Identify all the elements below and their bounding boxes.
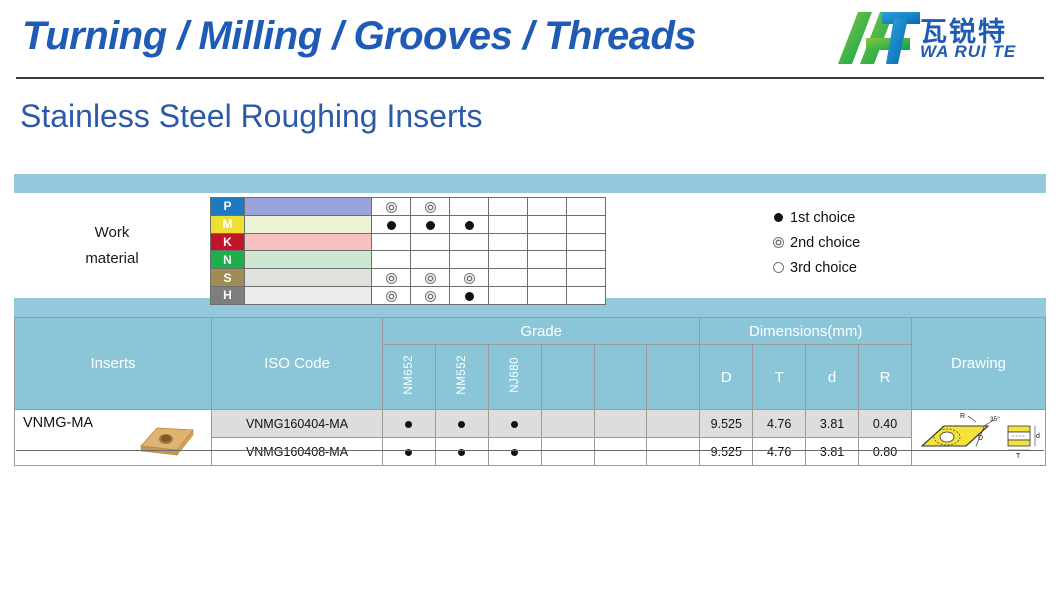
work-material-color-bar: [245, 269, 372, 287]
mark-1st-choice: [405, 421, 412, 428]
mark-2nd-choice: [386, 273, 397, 284]
cell-dimension-d: 3.81: [806, 410, 859, 438]
work-material-group-n: N: [211, 251, 245, 269]
grade-col-empty: [541, 345, 594, 410]
mark-2nd-choice: [425, 291, 436, 302]
work-material-label: Work material: [14, 193, 210, 298]
work-material-cell: [372, 198, 411, 216]
cell-dimension-R: 0.40: [859, 410, 912, 438]
work-material-cell: [450, 269, 489, 287]
grade-col-NM552: NM552: [435, 345, 488, 410]
legend-label: 2nd choice: [790, 235, 860, 251]
table-bottom-divider: [16, 450, 1044, 451]
mark-2nd-choice: [386, 291, 397, 302]
company-logo: 瓦锐特 WA RUI TE: [836, 8, 1048, 70]
dimension-col-D: D: [700, 345, 753, 410]
cell-grade: [435, 410, 488, 438]
work-material-cell: [528, 233, 567, 251]
mark-2nd-choice: [386, 202, 397, 213]
work-material-cell: [489, 251, 528, 269]
logo-mark-icon: [836, 8, 920, 68]
cell-dimension-R: 0.80: [859, 438, 912, 466]
legend-marker: [766, 235, 790, 251]
grade-col-empty: [647, 345, 700, 410]
work-material-group-m: M: [211, 215, 245, 233]
col-header-grade: Grade: [383, 318, 700, 345]
work-material-group-k: K: [211, 233, 245, 251]
mark-1st-choice: [458, 421, 465, 428]
product-table-area: Work material PMKNSH 1st choice2nd choic…: [14, 174, 1046, 466]
work-material-cell: [411, 251, 450, 269]
cell-grade: [488, 438, 541, 466]
cell-grade: [541, 410, 594, 438]
header-divider: [16, 77, 1044, 79]
work-material-color-bar: [245, 251, 372, 269]
drawing-label-angle: 35°: [990, 415, 1000, 423]
work-material-cell: [450, 251, 489, 269]
work-material-cell: [372, 269, 411, 287]
insert-family-cell: VNMG-MA: [15, 410, 212, 466]
work-material-cell: [567, 233, 606, 251]
work-material-cell: [567, 251, 606, 269]
dimension-col-R: R: [859, 345, 912, 410]
cell-grade: [647, 438, 700, 466]
drawing-label-r: R: [960, 413, 965, 420]
insert-technical-drawing: R 35° D d T: [916, 412, 1044, 464]
col-header-iso-code: ISO Code: [212, 318, 383, 410]
cell-dimension-T: 4.76: [753, 410, 806, 438]
work-material-cell: [528, 286, 567, 304]
mark-2nd-choice: [425, 202, 436, 213]
cell-grade: [488, 410, 541, 438]
work-material-cell: [411, 269, 450, 287]
work-material-cell: [567, 269, 606, 287]
grade-col-NM652: NM652: [383, 345, 436, 410]
mark-1st-choice: [465, 292, 474, 301]
work-material-row: N: [211, 251, 606, 269]
work-material-cell: [528, 251, 567, 269]
header-title: Turning / Milling / Grooves / Threads: [22, 14, 696, 59]
work-material-color-bar: [245, 233, 372, 251]
legend-marker: [766, 210, 790, 226]
work-material-cell: [372, 215, 411, 233]
work-material-cell: [450, 286, 489, 304]
work-material-matrix: PMKNSH: [210, 197, 606, 305]
work-material-row: P: [211, 198, 606, 216]
mark-1st-choice: [511, 421, 518, 428]
cell-grade: [383, 410, 436, 438]
work-material-cell: [489, 286, 528, 304]
work-material-group-h: H: [211, 286, 245, 304]
cell-grade: [541, 438, 594, 466]
work-material-cell: [489, 215, 528, 233]
work-material-color-bar: [245, 286, 372, 304]
work-material-cell: [372, 233, 411, 251]
legend-label: 3rd choice: [790, 260, 857, 276]
cell-grade: [647, 410, 700, 438]
work-material-cell: [450, 215, 489, 233]
mark-2nd-choice: [464, 273, 475, 284]
cell-iso-code: VNMG160404-MA: [212, 410, 383, 438]
mark-1st-choice: [426, 221, 435, 230]
work-material-label-line1: Work: [95, 220, 130, 246]
page-title: Stainless Steel Roughing Inserts: [20, 98, 482, 135]
legend-marker: [766, 260, 790, 276]
work-material-cell: [411, 198, 450, 216]
work-material-row: S: [211, 269, 606, 287]
dimension-col-T: T: [753, 345, 806, 410]
logo-english-text: WA RUI TE: [920, 42, 1016, 62]
table-row: VNMG-MA VNMG160404-MA9.5254.763.810.40 R…: [15, 410, 1046, 438]
grade-name: NM652: [403, 355, 415, 395]
work-material-section: Work material PMKNSH 1st choice2nd choic…: [14, 193, 1046, 298]
mark-3rd-choice: [773, 262, 784, 273]
drawing-label-d-major: D: [978, 435, 983, 442]
cell-iso-code: VNMG160408-MA: [212, 438, 383, 466]
work-material-color-bar: [245, 215, 372, 233]
work-material-group-p: P: [211, 198, 245, 216]
work-material-cell: [489, 269, 528, 287]
col-header-drawing: Drawing: [912, 318, 1046, 410]
work-material-cell: [372, 286, 411, 304]
cell-dimension-T: 4.76: [753, 438, 806, 466]
cell-grade: [383, 438, 436, 466]
grade-name: NM552: [456, 355, 468, 395]
work-material-cell: [528, 269, 567, 287]
col-header-inserts: Inserts: [15, 318, 212, 410]
insert-specification-table: Inserts ISO Code Grade Dimensions(mm) Dr…: [14, 317, 1046, 466]
cell-dimension-d: 3.81: [806, 438, 859, 466]
work-material-cell: [411, 215, 450, 233]
legend-item: 3rd choice: [766, 255, 986, 280]
drawing-label-d-minor: d: [1036, 433, 1040, 440]
legend-item: 2nd choice: [766, 230, 986, 255]
grade-col-empty: [594, 345, 647, 410]
work-material-row: M: [211, 215, 606, 233]
work-material-cell: [489, 233, 528, 251]
work-material-group-s: S: [211, 269, 245, 287]
cell-dimension-D: 9.525: [700, 438, 753, 466]
mark-1st-choice: [465, 221, 474, 230]
work-material-cell: [450, 198, 489, 216]
mark-2nd-choice: [425, 273, 436, 284]
work-material-cell: [567, 215, 606, 233]
page-header: Turning / Milling / Grooves / Threads 瓦锐…: [0, 0, 1060, 80]
col-header-dimensions: Dimensions(mm): [700, 318, 912, 345]
work-material-cell: [567, 198, 606, 216]
cell-grade: [594, 438, 647, 466]
drawing-cell: R 35° D d T: [912, 410, 1046, 466]
top-accent-bar: [14, 174, 1046, 193]
work-material-cell: [567, 286, 606, 304]
mark-2nd-choice: [773, 237, 784, 248]
work-material-cell: [528, 198, 567, 216]
grade-name: NJ680: [509, 357, 521, 393]
work-material-color-bar: [245, 198, 372, 216]
cell-grade: [435, 438, 488, 466]
work-material-cell: [528, 215, 567, 233]
work-material-row: K: [211, 233, 606, 251]
work-material-cell: [489, 198, 528, 216]
insert-family-name: VNMG-MA: [23, 415, 93, 431]
cell-dimension-D: 9.525: [700, 410, 753, 438]
choice-legend: 1st choice2nd choice3rd choice: [766, 205, 986, 280]
dimension-col-d: d: [806, 345, 859, 410]
insert-product-photo: [137, 420, 199, 460]
grade-col-NJ680: NJ680: [488, 345, 541, 410]
work-material-cell: [450, 233, 489, 251]
work-material-row: H: [211, 286, 606, 304]
mark-1st-choice: [387, 221, 396, 230]
drawing-label-t: T: [1016, 453, 1021, 460]
cell-grade: [594, 410, 647, 438]
legend-item: 1st choice: [766, 205, 986, 230]
work-material-label-line2: material: [85, 246, 138, 272]
work-material-cell: [411, 233, 450, 251]
work-material-cell: [372, 251, 411, 269]
work-material-cell: [411, 286, 450, 304]
legend-label: 1st choice: [790, 210, 855, 226]
mark-1st-choice: [774, 213, 783, 222]
